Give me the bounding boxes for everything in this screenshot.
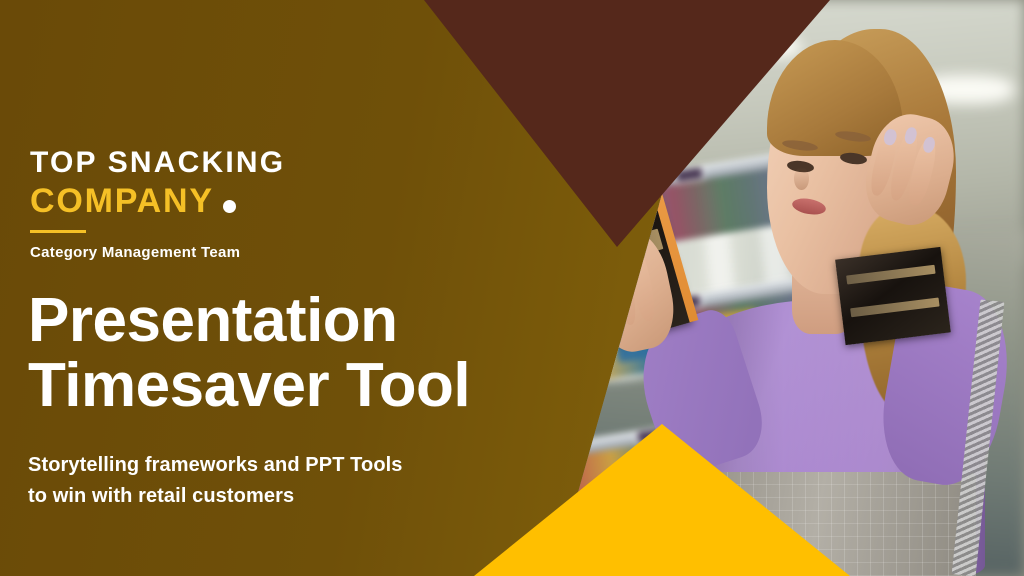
- snack-package-right: [835, 247, 951, 346]
- page-title: Presentation Timesaver Tool: [28, 288, 470, 418]
- page-subtitle: Storytelling frameworks and PPT Tools to…: [28, 450, 403, 512]
- page-title-line1: Presentation: [28, 286, 398, 355]
- page-title-line2: Timesaver Tool: [28, 353, 470, 418]
- presentation-title-slide: TOP SNACKING COMPANY Category Management…: [0, 0, 1024, 576]
- page-subtitle-line2: to win with retail customers: [28, 481, 403, 512]
- logo-company-text: COMPANY: [30, 184, 214, 218]
- bullet-dot-icon: [223, 200, 236, 213]
- nose: [794, 167, 809, 190]
- page-subtitle-line1: Storytelling frameworks and PPT Tools: [28, 454, 403, 476]
- package-band: [850, 298, 940, 317]
- package-band: [846, 265, 936, 284]
- logo-divider-rule: [30, 230, 86, 233]
- logo-team-label: Category Management Team: [30, 244, 285, 261]
- logo-line-top: TOP SNACKING: [30, 148, 285, 178]
- brand-logo: TOP SNACKING COMPANY Category Management…: [30, 148, 285, 261]
- logo-line-company: COMPANY: [30, 184, 285, 218]
